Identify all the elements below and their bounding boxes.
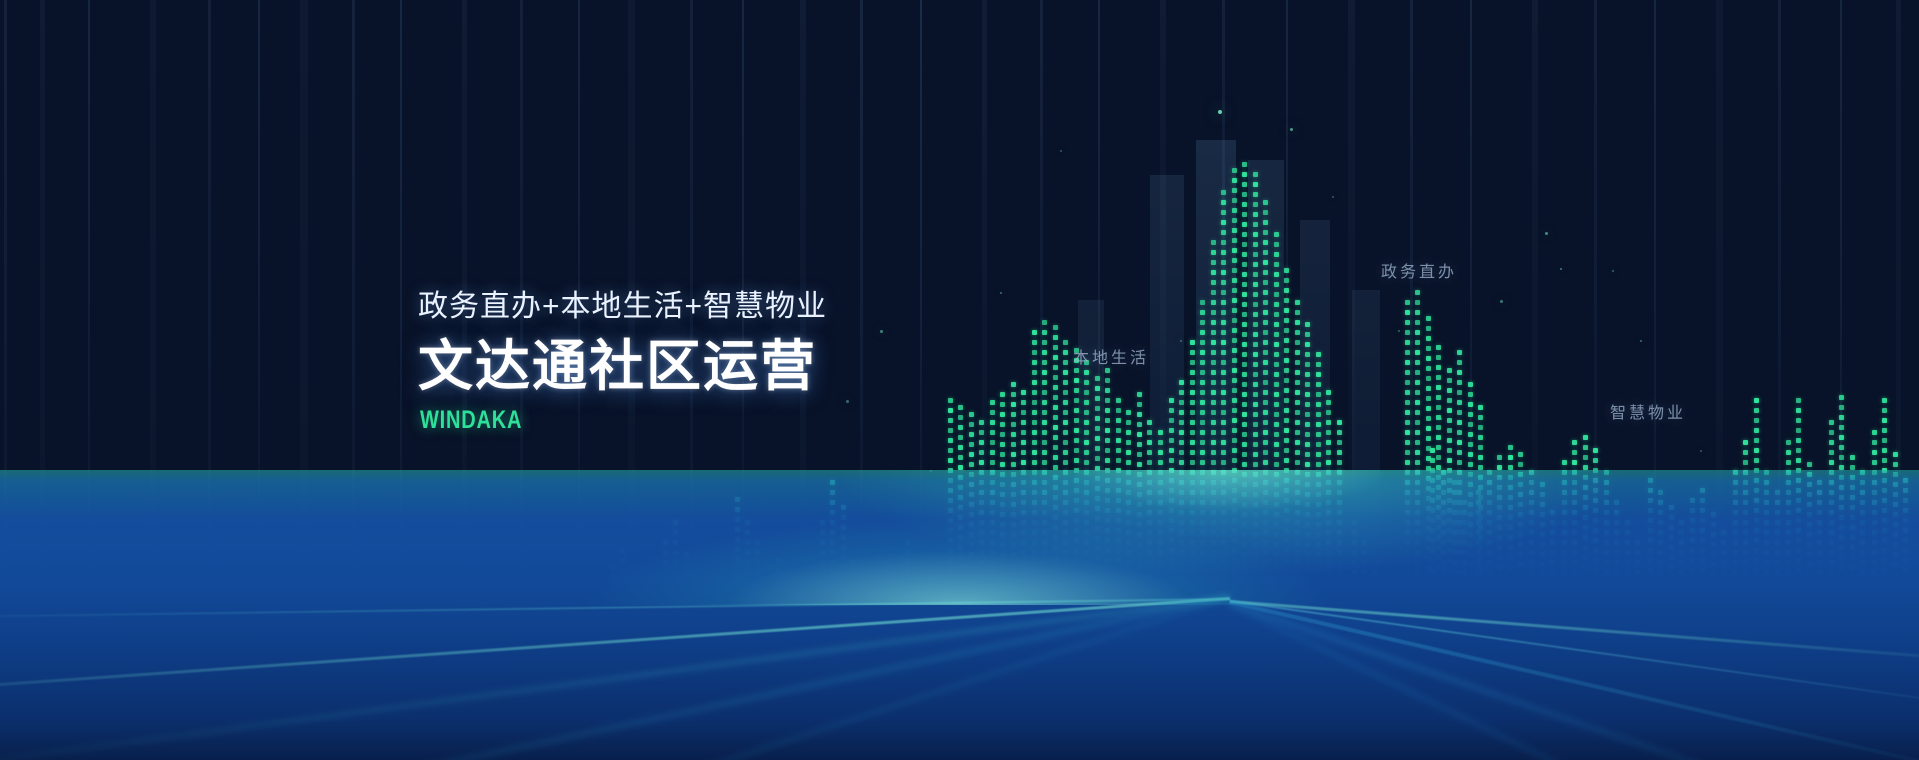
banner-title: 文达通社区运营: [418, 338, 827, 396]
brand-wordmark: WINDAKA: [420, 408, 746, 433]
floating-labels: 政务直办本地生活智慧物业: [0, 0, 1919, 760]
floating-label-2: 本地生活: [1073, 344, 1149, 368]
banner-subtitle: 政务直办+本地生活+智慧物业: [418, 292, 827, 322]
floating-label-3: 智慧物业: [1610, 399, 1686, 423]
floating-label-1: 政务直办: [1381, 258, 1457, 282]
hero-banner: 政务直办本地生活智慧物业 政务直办+本地生活+智慧物业 文达通社区运营 WIND…: [0, 0, 1919, 760]
headline-block: 政务直办+本地生活+智慧物业 文达通社区运营 WINDAKA: [418, 292, 827, 433]
